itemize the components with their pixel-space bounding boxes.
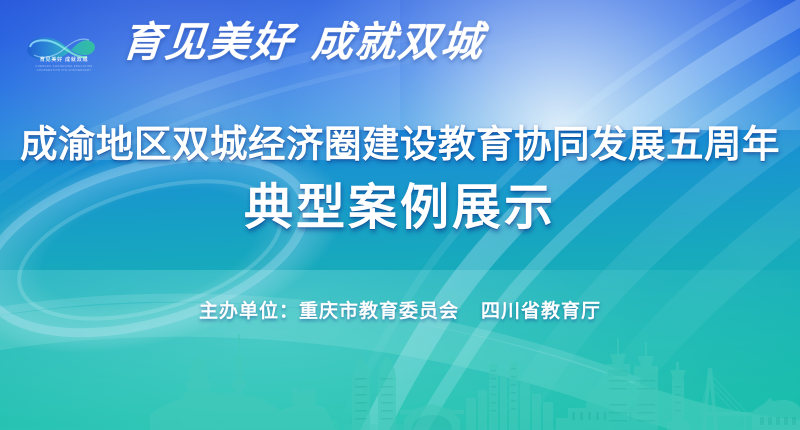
organizer-name-2: 四川省教育厅 [481, 301, 601, 322]
city-skyline-silhouette [0, 320, 800, 430]
landmark-hillside-complex [752, 398, 800, 430]
landmark-tv-tower [225, 334, 253, 430]
landmark-arch-span [400, 404, 464, 430]
landmark-panda-stadium [268, 387, 339, 430]
landmark-bridge [272, 411, 334, 430]
landmark-cable-stay-bridge [700, 368, 780, 430]
logo-subline-1: CHENGDU-CHONGQING EDUCATION [35, 65, 92, 68]
calligraphy-slogan: 育见美好成就双城 [120, 22, 486, 63]
glow-bottom-highlight [0, 270, 800, 430]
event-banner: 育见美好 成就双城 CHENGDU-CHONGQING EDUCATION CO… [0, 0, 800, 430]
landmark-tower-cluster [466, 362, 553, 430]
landmark-memorial-arch [300, 414, 338, 430]
organizer-line: 主办单位：重庆市教育委员会四川省教育厅 [0, 296, 800, 323]
slogan-part-1: 育见美好 [120, 19, 296, 65]
landmark-petronas-twin-towers [606, 338, 658, 430]
landmark-arch-bridge-main [284, 411, 340, 430]
landmark-monument-tower [667, 362, 689, 430]
event-logo: 育见美好 成就双城 CHENGDU-CHONGQING EDUCATION CO… [18, 26, 110, 84]
organizer-name-1: 重庆市教育委员会 [299, 301, 459, 322]
landmark-stone-arch-bridge [278, 409, 340, 430]
slogan-part-2: 成就双城 [310, 19, 486, 65]
organizer-label: 主办单位： [199, 301, 299, 322]
logo-subline-2: COOPERATION 5TH ANNIVERSARY [37, 69, 92, 72]
title-line-1: 成渝地区双城经济圈建设教育协同发展五周年 [0, 122, 800, 166]
landmark-pagoda [177, 354, 220, 430]
landmark-arch-bridge [272, 404, 340, 430]
logo-wordmark: 育见美好 成就双城 [18, 57, 110, 63]
landmark-curved-roof-hall [150, 392, 284, 430]
landmark-twin-towers [344, 356, 404, 430]
landmark-dome-hall [556, 378, 652, 430]
headline-block: 成渝地区双城经济圈建设教育协同发展五周年 典型案例展示 [0, 122, 800, 237]
landmark-arch-bridge-visible [276, 414, 326, 430]
logo-subline: CHENGDU-CHONGQING EDUCATION COOPERATION … [18, 65, 110, 73]
title-line-2: 典型案例展示 [0, 180, 800, 236]
